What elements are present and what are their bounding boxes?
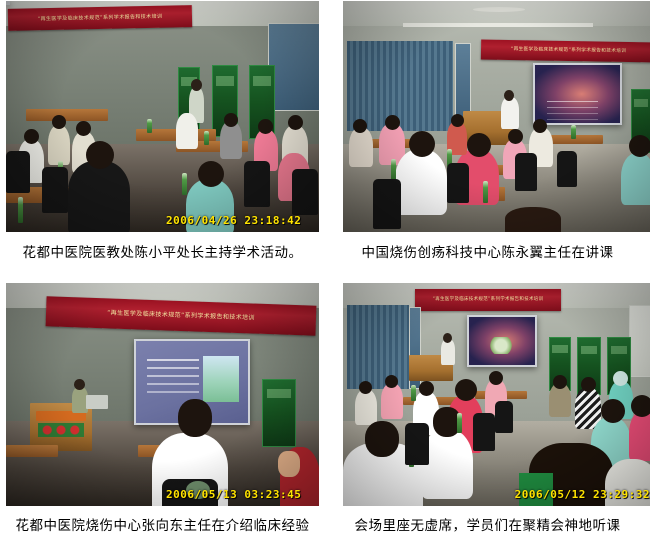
event-banner: “再生医学及临床技术规范”系列学术报告和技术培训	[415, 289, 561, 311]
water-bottle	[571, 125, 576, 139]
attendee-head	[365, 421, 399, 457]
photo-2-scene: “再生医学及临床技术规范”系列学术报告和技术培训	[343, 1, 650, 232]
attendee-head	[533, 119, 547, 133]
attendee-head	[385, 375, 398, 388]
photo-2[interactable]: “再生医学及临床技术规范”系列学术报告和技术培训	[343, 1, 650, 232]
attendee-head	[178, 399, 212, 437]
photo-3[interactable]: “再生医学及临床技术规范”系列学术报告和技术培训	[6, 283, 319, 506]
gallery-cell-1: “再生医学及临床技术规范”系列学术报告和技术培训	[0, 0, 325, 267]
photo-3-scene: “再生医学及临床技术规范”系列学术报告和技术培训	[6, 283, 319, 506]
attendee-head	[508, 129, 523, 144]
attendee-head	[451, 114, 464, 127]
photo-gallery: “再生医学及临床技术规范”系列学术报告和技术培训	[0, 0, 650, 534]
water-bottle	[411, 385, 416, 401]
attendee-head	[631, 395, 650, 417]
water-bottle	[204, 131, 209, 145]
desk	[6, 445, 58, 457]
water-bottle	[457, 413, 462, 433]
attendee-head	[224, 113, 238, 127]
attendee	[395, 149, 447, 215]
presenter-head	[74, 379, 85, 390]
roll-up-banner	[262, 379, 296, 447]
attendee-head	[629, 135, 650, 157]
desk	[551, 135, 603, 144]
attendee-head	[76, 121, 91, 136]
attendee	[176, 113, 198, 149]
photo-4-caption: 会场里座无虚席，学员们在聚精会神地听课	[355, 514, 621, 534]
chair-back	[244, 161, 270, 207]
water-bottle	[18, 197, 23, 223]
attendee-head	[455, 379, 477, 401]
attendee-head	[24, 129, 39, 144]
lectern-flowers	[38, 423, 84, 437]
laptop	[86, 395, 108, 409]
chair-back	[495, 401, 513, 433]
fluorescent-light	[403, 23, 593, 27]
attendee-head	[288, 115, 303, 130]
water-bottle	[147, 119, 152, 133]
gallery-cell-3: “再生医学及临床技术规范”系列学术报告和技术培训	[0, 267, 325, 534]
water-bottle	[391, 159, 396, 181]
attendee-head	[467, 133, 491, 157]
attendee-foreground	[68, 161, 130, 232]
attendee-head	[52, 115, 66, 129]
attendee	[629, 411, 650, 461]
desk-1	[26, 109, 108, 121]
photo-2-caption: 中国烧伤创疡科技中心陈永翼主任在讲课	[362, 241, 614, 261]
attendee	[349, 127, 373, 167]
water-bottle	[483, 181, 488, 203]
photo-3-timestamp: 2006/05/13 03:23:45	[166, 488, 301, 501]
attendee-head	[419, 381, 434, 396]
attendee-head	[353, 119, 367, 133]
water-bottle	[182, 173, 187, 195]
chair-back	[405, 423, 429, 465]
chair-back	[42, 167, 68, 213]
attendee-head	[86, 141, 114, 169]
photo-1[interactable]: “再生医学及临床技术规范”系列学术报告和技术培训	[6, 1, 319, 232]
event-banner: “再生医学及临床技术规范”系列学术报告和技术培训	[8, 5, 192, 31]
attendee-head	[385, 115, 400, 130]
attendee	[48, 125, 70, 165]
speaker-head	[191, 79, 202, 91]
attendee-head	[409, 131, 435, 157]
attendee	[621, 153, 650, 205]
gallery-cell-2: “再生医学及临床技术规范”系列学术报告和技术培训	[325, 0, 650, 267]
photo-4-timestamp: 2006/05/12 23:29:32	[515, 488, 650, 501]
gallery-cell-4: “再生医学及临床技术规范”系列学术报告和技术培训	[325, 267, 650, 534]
photo-1-caption: 花都中医院医教处陈小平处长主持学术活动。	[23, 241, 303, 261]
chair-back	[292, 169, 318, 215]
window	[268, 23, 319, 111]
projection-screen	[533, 63, 622, 125]
attendee-head	[198, 161, 224, 187]
lecturer	[501, 97, 519, 129]
chair-back	[473, 413, 495, 451]
attendee-head	[359, 381, 372, 394]
attendee	[355, 389, 377, 425]
photo-3-caption: 花都中医院烧伤中心张向东主任在介绍临床经验	[16, 514, 310, 534]
photo-4-scene: “再生医学及临床技术规范”系列学术报告和技术培训	[343, 283, 650, 506]
attendee-head	[258, 119, 273, 134]
window-curtain	[347, 305, 409, 389]
attendee-head	[553, 375, 567, 389]
lecturer-head	[443, 333, 452, 343]
lecturer-head	[504, 90, 514, 101]
attendee-foreground	[505, 207, 561, 232]
photo-4[interactable]: “再生医学及临床技术规范”系列学术报告和技术培训	[343, 283, 650, 506]
event-banner: “再生医学及临床技术规范”系列学术报告和技术培训	[481, 39, 650, 62]
chair-back	[557, 151, 577, 187]
chair-back	[373, 179, 401, 229]
attendee-head	[581, 377, 596, 392]
window-curtain	[347, 41, 453, 131]
attendee-arm	[278, 451, 300, 477]
ceiling-fan	[473, 7, 525, 12]
projection-screen	[6, 1, 10, 5]
chair-back	[6, 151, 30, 193]
window-right	[629, 305, 650, 377]
chair-back	[515, 153, 537, 191]
attendee	[381, 383, 403, 419]
attendee-head	[613, 371, 628, 386]
photo-1-timestamp: 2006/04/26 23:18:42	[166, 214, 301, 227]
photo-1-scene: “再生医学及临床技术规范”系列学术报告和技术培训	[6, 1, 319, 232]
projection-screen	[467, 315, 537, 367]
chair-back	[447, 163, 469, 203]
attendee-head	[601, 399, 625, 423]
attendee-head	[489, 371, 503, 385]
